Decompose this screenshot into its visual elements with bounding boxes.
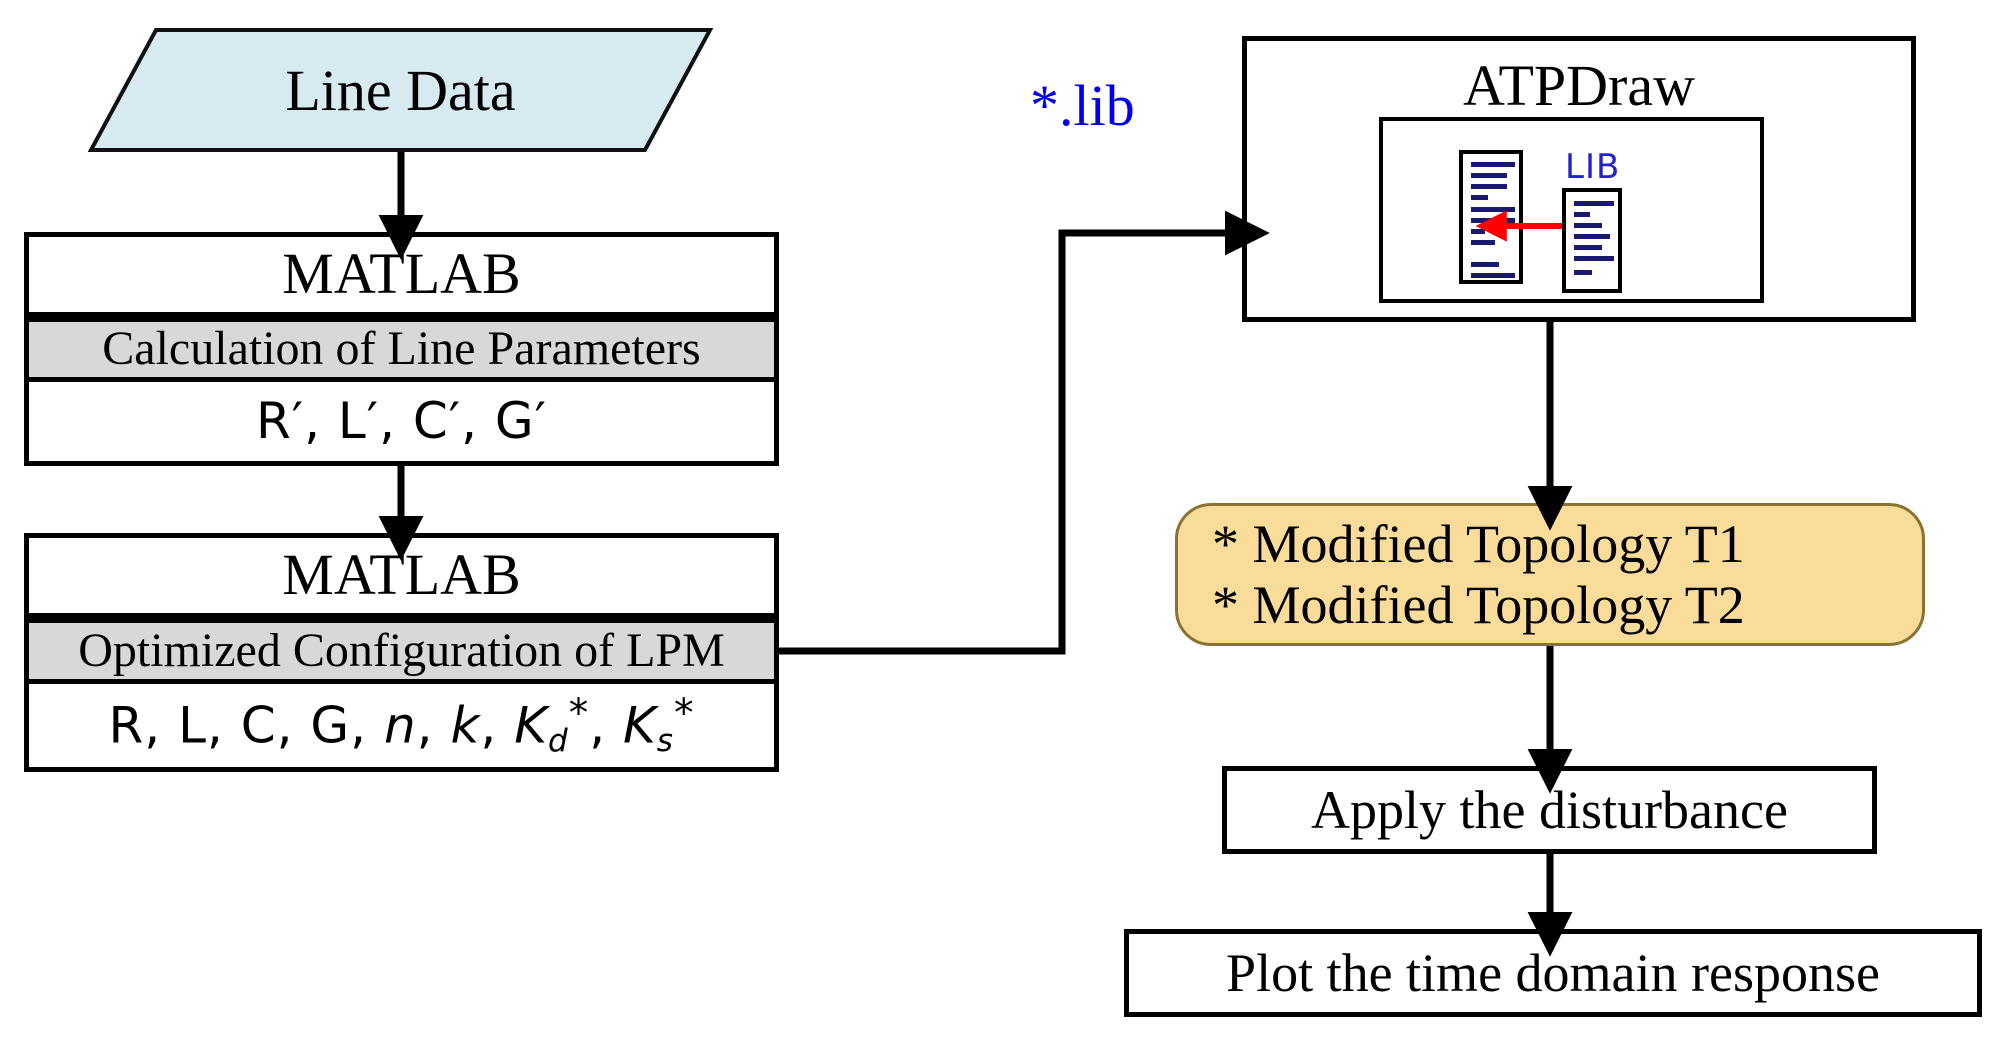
matlab-2-output-label: R, L, C, G, n, k, Kd*, Ks*: [109, 694, 695, 758]
library-document-icon: [1562, 188, 1622, 293]
doc-line: [1471, 184, 1507, 189]
matlab-1-subtitle-label: Calculation of Line Parameters: [102, 324, 700, 374]
doc-line: [1471, 229, 1485, 234]
m2-sep3: ,: [589, 696, 623, 754]
lib-edge-label: *.lib: [1030, 72, 1135, 139]
doc-line: [1574, 223, 1602, 228]
node-matlab-1-header: MATLAB: [24, 232, 779, 317]
m2-k: k: [450, 696, 480, 754]
m2-K2: K: [623, 696, 657, 754]
doc-line: [1471, 262, 1499, 267]
doc-line: [1574, 201, 1614, 206]
node-modified-topology: * Modified Topology T1 * Modified Topolo…: [1175, 503, 1925, 646]
doc-line: [1471, 273, 1515, 278]
m2-n: n: [384, 696, 417, 754]
node-apply-disturbance-label: Apply the disturbance: [1311, 782, 1788, 839]
doc-line: [1574, 270, 1592, 275]
document-icon: [1459, 150, 1523, 284]
m2-sep2: ,: [480, 696, 514, 754]
doc-line: [1471, 207, 1515, 212]
matlab-1-output-label: R′, L′, C′, G′: [256, 395, 547, 448]
doc-line: [1574, 245, 1602, 250]
node-apply-disturbance: Apply the disturbance: [1222, 766, 1877, 854]
m2-K1: K: [514, 696, 548, 754]
matlab-2-title: MATLAB: [282, 545, 520, 606]
flowchart-canvas: Line Data MATLAB Calculation of Line Par…: [0, 0, 2007, 1050]
doc-line: [1471, 240, 1495, 245]
m2-K2-sup: *: [674, 691, 695, 736]
node-matlab-2-subtitle: Optimized Configuration of LPM: [24, 618, 779, 684]
doc-line: [1574, 256, 1614, 261]
m2-K2-sub: s: [657, 723, 674, 759]
node-matlab-2-output: R, L, C, G, n, k, Kd*, Ks*: [24, 684, 779, 772]
doc-line: [1471, 162, 1515, 167]
doc-line: [1471, 218, 1515, 223]
node-atpdraw-title-wrap: ATPDraw: [1242, 50, 1916, 120]
matlab-1-title: MATLAB: [282, 244, 520, 305]
doc-line: [1471, 173, 1507, 178]
modified-topology-line-1: * Modified Topology T1: [1212, 514, 1745, 574]
matlab-2-subtitle-label: Optimized Configuration of LPM: [78, 626, 725, 676]
node-line-data: Line Data: [88, 27, 713, 153]
modified-topology-line-2: * Modified Topology T2: [1212, 575, 1745, 635]
node-plot-response-label: Plot the time domain response: [1226, 945, 1880, 1002]
node-matlab-2-header: MATLAB: [24, 533, 779, 618]
node-matlab-1-subtitle: Calculation of Line Parameters: [24, 317, 779, 382]
doc-line: [1574, 212, 1590, 217]
node-atpdraw-title: ATPDraw: [1463, 52, 1695, 119]
edge-matlab2-to-atpdraw: [779, 233, 1232, 651]
m2-sep1: ,: [417, 696, 451, 754]
m2-K1-sub: d: [548, 723, 569, 759]
node-line-data-label: Line Data: [88, 27, 713, 153]
lib-tag-label: LIB: [1565, 147, 1620, 187]
node-matlab-1-output: R′, L′, C′, G′: [24, 382, 779, 466]
doc-line: [1574, 234, 1610, 239]
doc-line: [1471, 195, 1488, 200]
node-plot-response: Plot the time domain response: [1124, 929, 1982, 1017]
m2-prefix: R, L, C, G,: [109, 696, 384, 754]
m2-K1-sup: *: [569, 691, 590, 736]
